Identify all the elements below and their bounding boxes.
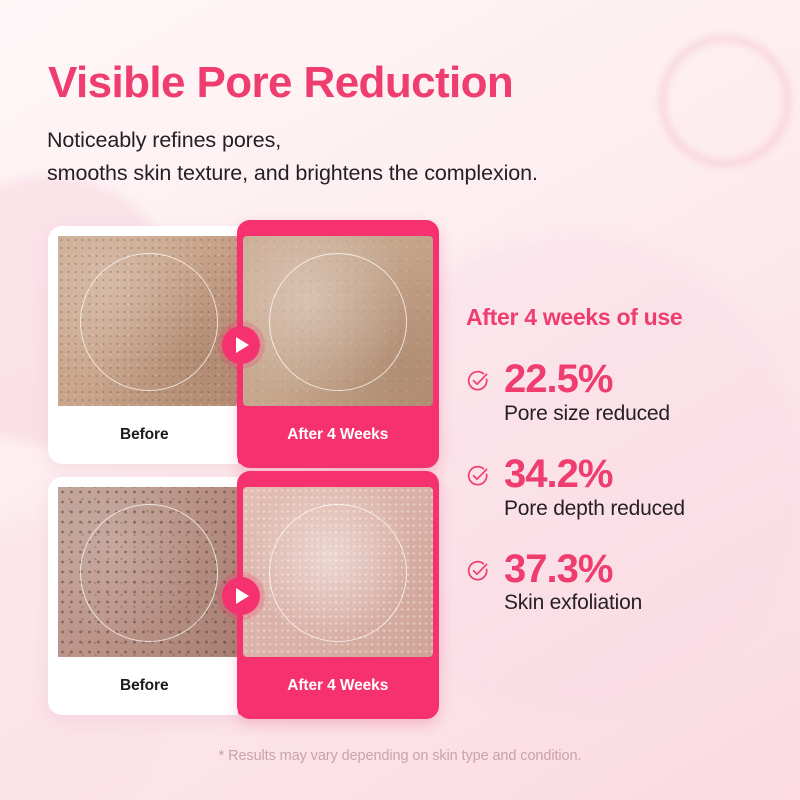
stat-row-pore-size: 22.5% Pore size reduced xyxy=(466,359,766,426)
stat-label: Skin exfoliation xyxy=(504,591,766,615)
after-label-1: After 4 Weeks xyxy=(237,406,440,464)
before-photo-2 xyxy=(58,487,241,657)
disclaimer-text: * Results may vary depending on skin typ… xyxy=(0,748,800,764)
stat-label: Pore depth reduced xyxy=(504,497,766,521)
play-triangle-icon xyxy=(236,337,249,353)
stat-value: 34.2% xyxy=(504,454,766,495)
results-panel: After 4 weeks of use 22.5% Pore size red… xyxy=(466,304,766,615)
stat-label: Pore size reduced xyxy=(504,402,766,426)
after-photo-2 xyxy=(243,487,434,657)
after-photo-1 xyxy=(243,236,434,406)
measurement-zone-circle xyxy=(80,504,218,642)
measurement-zone-circle xyxy=(269,504,407,642)
play-triangle-icon xyxy=(236,588,249,604)
check-circle-icon xyxy=(466,369,490,393)
stat-value: 37.3% xyxy=(504,549,766,590)
after-pane-1: After 4 Weeks xyxy=(237,220,440,468)
after-pane-2: After 4 Weeks xyxy=(237,471,440,719)
before-label-1: Before xyxy=(48,406,241,464)
play-button-1[interactable] xyxy=(222,326,260,364)
measurement-zone-circle xyxy=(269,253,407,391)
subtitle-line-2: smooths skin texture, and brightens the … xyxy=(47,157,538,190)
comparison-card-1: Before After 4 Weeks xyxy=(48,226,433,464)
after-label-2: After 4 Weeks xyxy=(237,657,440,715)
stat-value: 22.5% xyxy=(504,359,766,400)
page-subtitle: Noticeably refines pores, smooths skin t… xyxy=(47,124,538,190)
page-title: Visible Pore Reduction xyxy=(48,58,513,108)
play-button-2[interactable] xyxy=(222,577,260,615)
poster-root: Visible Pore Reduction Noticeably refine… xyxy=(0,0,800,800)
before-label-2: Before xyxy=(48,657,241,715)
comparison-card-2: Before After 4 Weeks xyxy=(48,477,433,715)
decorative-ring-top-right xyxy=(658,34,792,168)
results-title: After 4 weeks of use xyxy=(466,304,766,331)
measurement-zone-circle xyxy=(80,253,218,391)
stat-row-skin-exfoliation: 37.3% Skin exfoliation xyxy=(466,549,766,616)
stat-row-pore-depth: 34.2% Pore depth reduced xyxy=(466,454,766,521)
before-pane-1: Before xyxy=(48,226,241,464)
subtitle-line-1: Noticeably refines pores, xyxy=(47,124,538,157)
before-pane-2: Before xyxy=(48,477,241,715)
check-circle-icon xyxy=(466,559,490,583)
check-circle-icon xyxy=(466,464,490,488)
before-photo-1 xyxy=(58,236,241,406)
